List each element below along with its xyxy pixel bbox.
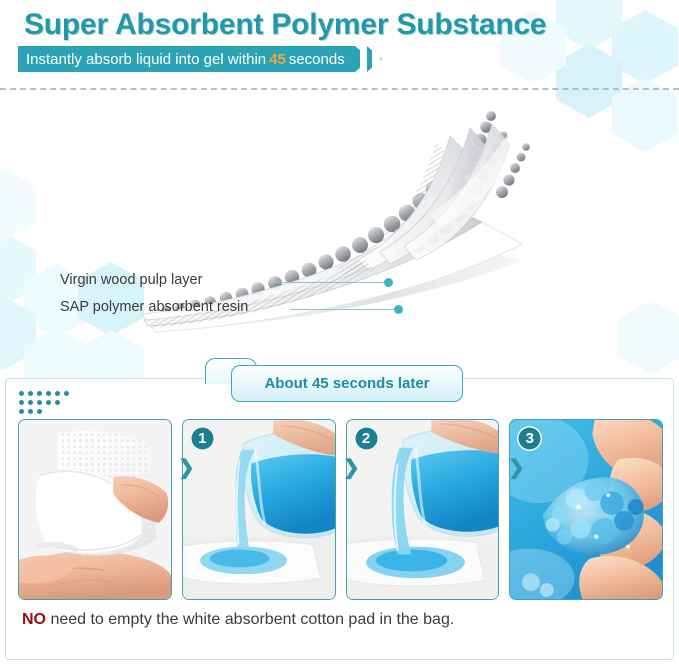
dot-grid-decoration-icon [19, 391, 79, 417]
caption-note: NO need to empty the white absorbent cot… [22, 611, 454, 629]
subtitle-banner: Instantly absorb liquid into gel within … [18, 46, 389, 72]
step-badge-3: 2 [354, 426, 379, 451]
pad-structure-illustration: Virgin wood pulp layer SAP polymer absor… [0, 96, 679, 352]
double-chevron-right-icon [355, 46, 389, 72]
step-panel-2[interactable]: 1 [182, 419, 336, 600]
caption-no-word: NO [22, 611, 46, 628]
step-badge-2: 1 [190, 426, 215, 451]
leader-line-1 [272, 282, 388, 283]
leader-dot-2 [394, 305, 403, 314]
step-panel-1[interactable] [18, 419, 172, 600]
page-title: Super Absorbent Polymer Substance [24, 8, 546, 42]
leader-dot-1 [384, 278, 393, 287]
label-virgin-wood-pulp: Virgin wood pulp layer [60, 272, 202, 288]
step-panel-4[interactable]: 3 [509, 419, 663, 600]
subtitle-number: 45 [266, 51, 289, 68]
label-sap-polymer-resin: SAP polymer absorbent resin [60, 299, 248, 315]
dashed-divider [0, 88, 679, 90]
subtitle-text-pre: Instantly absorb liquid into gel within [26, 51, 266, 68]
chevron-right-icon: ❯ [508, 457, 522, 479]
callout-label: About 45 seconds later [264, 375, 429, 392]
photo-white-pad-in-hand [19, 420, 171, 599]
chevron-right-icon: ❯ [343, 457, 357, 479]
callout-about-45-seconds: About 45 seconds later [231, 365, 463, 402]
infographic-page: Super Absorbent Polymer Substance Instan… [0, 0, 679, 665]
step-panel-3[interactable]: 2 [346, 419, 500, 600]
leader-line-2 [290, 309, 398, 310]
subtitle-text-post: seconds [289, 51, 345, 68]
steps-card: 1 [5, 378, 674, 660]
chevron-right-icon: ❯ [178, 457, 192, 479]
subtitle-bar: Instantly absorb liquid into gel within … [18, 46, 355, 72]
caption-rest-text: need to empty the white absorbent cotton… [46, 611, 454, 628]
step-panels: 1 [18, 419, 663, 600]
header: Super Absorbent Polymer Substance Instan… [0, 0, 679, 96]
